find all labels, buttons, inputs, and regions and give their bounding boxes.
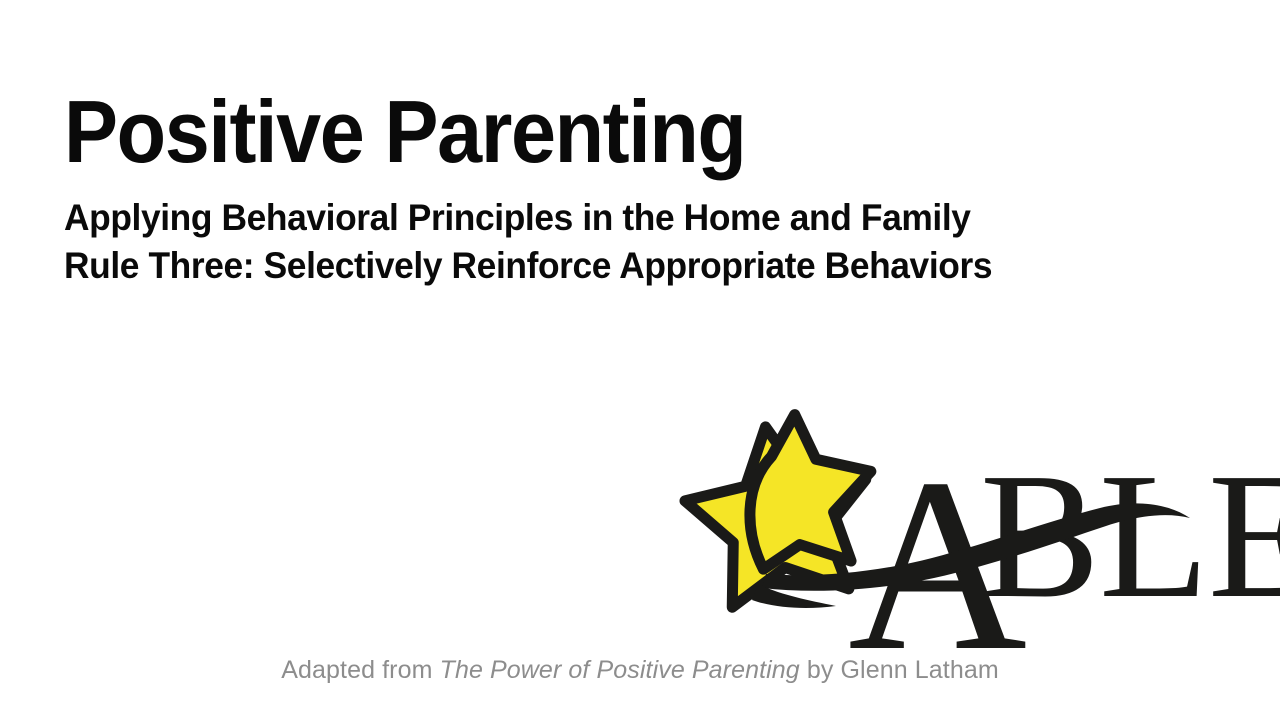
footer: Adapted from The Power of Positive Paren… [0,655,1280,685]
page-title: Positive Parenting [64,86,1076,178]
subtitle-block: Applying Behavioral Principles in the Ho… [64,194,1164,290]
subtitle-line-1: Applying Behavioral Principles in the Ho… [64,194,1115,242]
title-block: Positive Parenting Applying Behavioral P… [64,86,1164,290]
able-logo-graphic: A BLE [666,416,1226,656]
able-logo: A BLE [666,416,1226,656]
attribution-book-title: The Power of Positive Parenting [440,656,800,684]
attribution-text: Adapted from The Power of Positive Paren… [281,655,999,685]
attribution-suffix: by Glenn Latham [800,656,999,684]
slide-canvas: Positive Parenting Applying Behavioral P… [0,0,1280,720]
subtitle-line-2: Rule Three: Selectively Reinforce Approp… [64,242,1115,290]
attribution-prefix: Adapted from [281,656,439,684]
